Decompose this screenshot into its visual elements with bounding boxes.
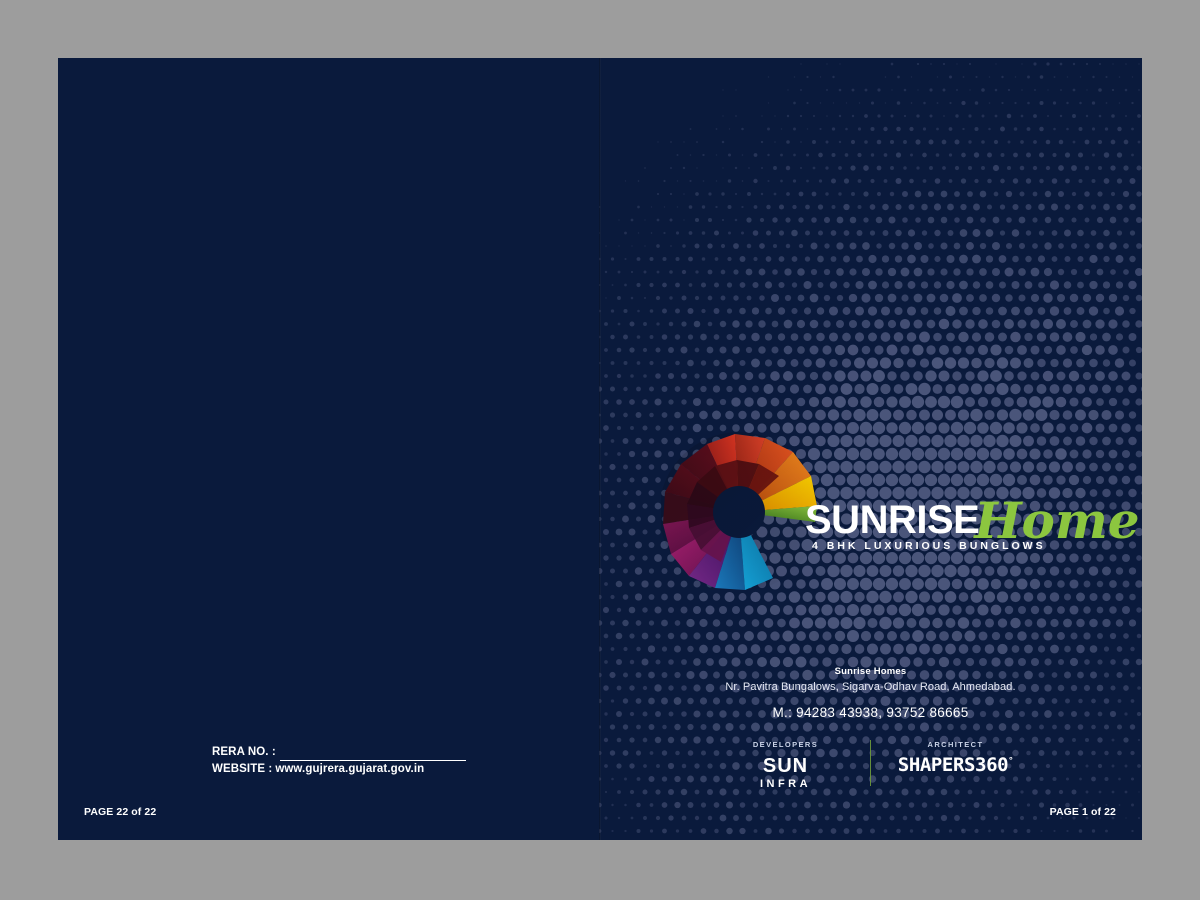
page-number-back: PAGE 22 of 22 [84, 806, 156, 818]
architect-logo-shapers360: SHAPERS360° [893, 756, 1018, 775]
developers-label: DEVELOPERS [723, 740, 848, 749]
rera-number-row: RERA NO. : [212, 744, 466, 761]
rera-website-value[interactable]: www.gujrera.gujarat.gov.in [275, 761, 424, 778]
front-cover-page: SUNRISE Home 4 BHK LUXURIOUS BUNGLOWS Su… [599, 58, 1142, 840]
sunrise-pinwheel-icon [661, 430, 821, 590]
architect-logo-text: SHAPERS360 [898, 754, 1008, 776]
company-name: Sunrise Homes [599, 665, 1142, 679]
rera-number-label: RERA NO. : [212, 744, 276, 761]
page-number-front: PAGE 1 of 22 [1050, 806, 1116, 818]
brand-tagline: 4 BHK LUXURIOUS BUNGLOWS [812, 540, 1046, 552]
credits-block: DEVELOPERS SUN INFRA ARCHITECT SHAPERS36… [599, 740, 1142, 800]
screenshot-canvas: RERA NO. : WEBSITE : www.gujrera.gujarat… [0, 0, 1200, 900]
company-phone: M.: 94283 43938, 93752 86665 [599, 705, 1142, 720]
brand-word-home: Home [974, 496, 1139, 546]
brand-wordmark: SUNRISE Home [805, 491, 1140, 541]
brand-logo-block: SUNRISE Home 4 BHK LUXURIOUS BUNGLOWS [599, 430, 1142, 620]
brand-word-sunrise: SUNRISE [805, 500, 979, 540]
back-cover-page: RERA NO. : WEBSITE : www.gujrera.gujarat… [58, 58, 599, 840]
credits-divider [870, 740, 871, 786]
rera-block: RERA NO. : WEBSITE : www.gujrera.gujarat… [212, 744, 466, 777]
architect-logo-degree: ° [1008, 757, 1013, 767]
rera-website-row: WEBSITE : www.gujrera.gujarat.gov.in [212, 761, 466, 778]
architect-label: ARCHITECT [893, 740, 1018, 749]
architect-credit: ARCHITECT SHAPERS360° [893, 740, 1018, 775]
company-address: Nr. Pavitra Bungalows, Sigarva-Odhav Roa… [599, 679, 1142, 696]
brochure-spread: RERA NO. : WEBSITE : www.gujrera.gujarat… [58, 58, 1142, 840]
developers-credit: DEVELOPERS SUN INFRA [723, 740, 848, 790]
rera-website-label: WEBSITE : [212, 761, 272, 778]
developer-logo-sun: SUN [723, 756, 848, 776]
contact-address-block: Sunrise Homes Nr. Pavitra Bungalows, Sig… [599, 665, 1142, 720]
rera-number-input[interactable] [280, 749, 466, 761]
developer-logo-infra: INFRA [723, 778, 848, 790]
